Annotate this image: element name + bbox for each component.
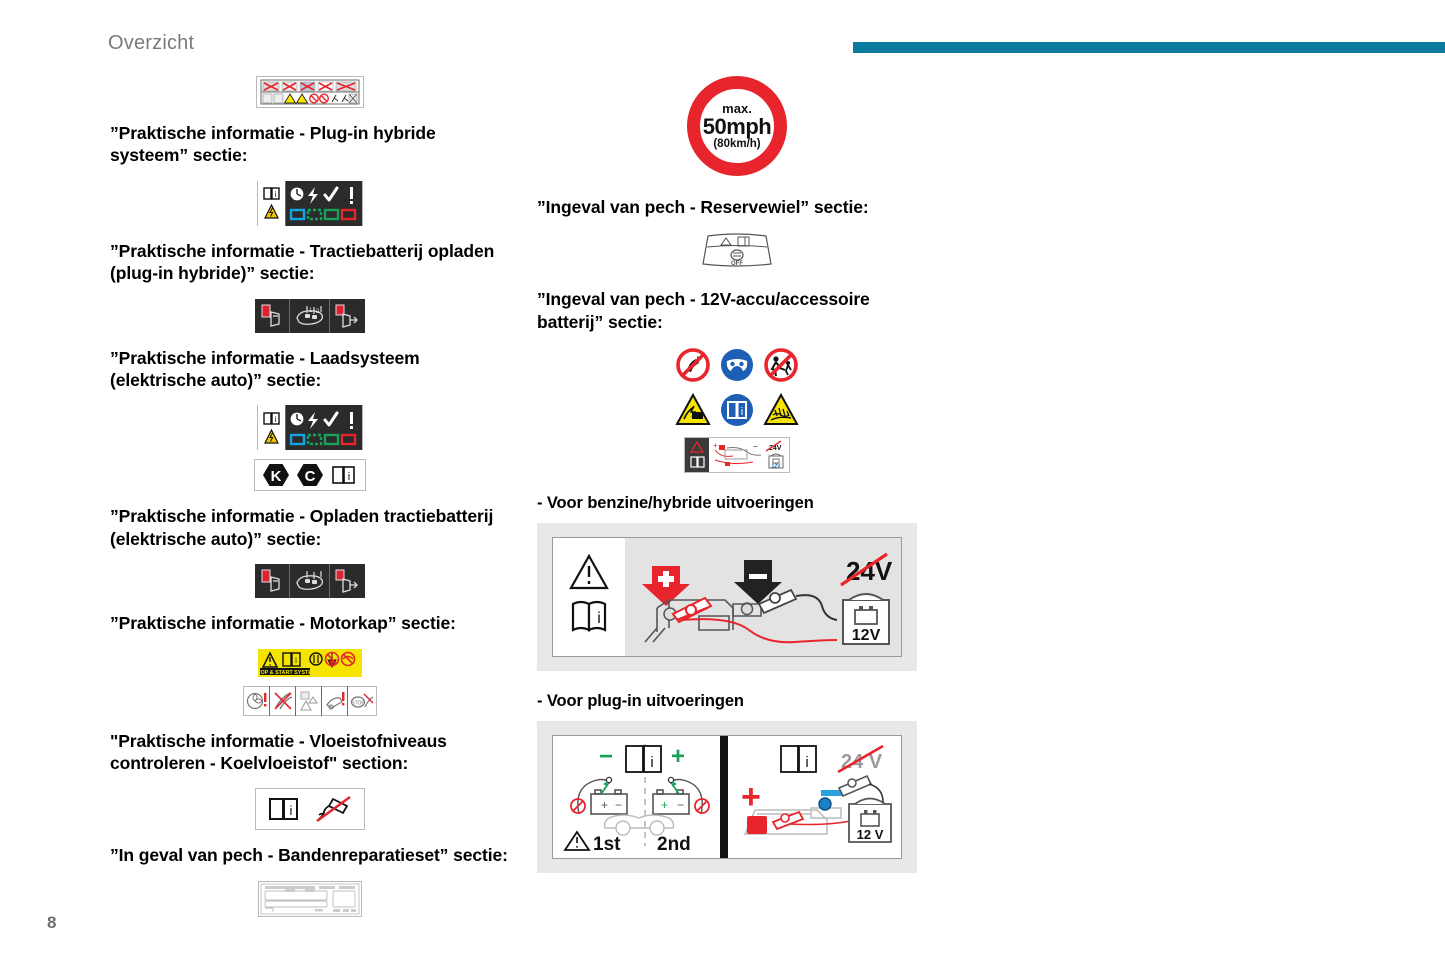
- svg-text:+: +: [713, 441, 718, 450]
- svg-text:−: −: [753, 442, 758, 451]
- read-manual-icon: i: [719, 392, 755, 428]
- svg-text:12V: 12V: [772, 464, 782, 470]
- icon-group-tyre-repair-kit: [110, 881, 510, 917]
- icon-group-charging-status-1: i: [110, 181, 510, 226]
- hexagon-k-icon: K: [259, 459, 293, 491]
- charging-flap-key-strip: 1 2: [255, 299, 365, 333]
- charging-status-indicator-strip: i: [257, 181, 363, 226]
- heading-traction-battery-charge-ev: ”Praktische informatie - Opladen tractie…: [110, 505, 510, 550]
- heading-12v-battery: ”Ingeval van pech - 12V-accu/accessoire …: [537, 288, 937, 333]
- svg-text:i: i: [274, 415, 276, 424]
- svg-text:i: i: [295, 656, 297, 665]
- plugin-minus-label: −: [599, 743, 613, 770]
- prohibition-warning-strip: [256, 76, 364, 108]
- icon-group-charging-flap-key-1: 1 2: [110, 299, 510, 333]
- svg-text:i: i: [650, 754, 653, 771]
- open-book-info-icon: i: [327, 459, 361, 491]
- heading-traction-battery-charging: ”Praktische informatie - Tractiebatterij…: [110, 240, 510, 285]
- heading-bonnet: ”Praktische informatie - Motorkap” secti…: [110, 612, 510, 634]
- speed-limit-sign: max. 50mph (80km/h): [687, 76, 787, 176]
- open-book-info-icon: i: [262, 788, 308, 830]
- step-2-label: 2nd: [657, 834, 691, 855]
- heading-charging-system-ev: ”Praktische informatie - Laadsysteem (el…: [110, 347, 510, 392]
- stop-start-warning-strip: i STOP & START SYSTEM: [258, 649, 362, 677]
- left-column: ”Praktische informatie - Plug-in hybride…: [110, 76, 510, 917]
- icon-group-tpms-off: OFF: [537, 232, 937, 268]
- subheading-plugin: - Voor plug-in uitvoeringen: [537, 691, 937, 712]
- battery-explosion-hazard-icon: [675, 392, 711, 428]
- icon-group-prohibition-warning: [110, 76, 510, 108]
- plugin-plus-label: +: [671, 743, 685, 770]
- tpms-off-button: OFF: [700, 232, 774, 268]
- no-hand-tool-icon: [308, 788, 358, 830]
- speed-metric: (80km/h): [713, 139, 760, 151]
- heading-tyre-repair-kit: ”In geval van pech - Bandenreparatieset”…: [110, 844, 510, 866]
- jump-start-plugin-diagram: − i + + − +: [537, 721, 917, 873]
- wear-eye-protection-icon: [719, 347, 755, 383]
- icon-group-k-c-manual: K C i: [110, 459, 510, 491]
- page-title: Overzicht: [108, 32, 194, 55]
- right-column: max. 50mph (80km/h) ”Ingeval van pech - …: [537, 76, 937, 873]
- tpms-off-label: OFF: [731, 261, 743, 267]
- corrosive-acid-hazard-icon: [763, 392, 799, 428]
- svg-text:K: K: [271, 468, 282, 485]
- svg-text:+: +: [601, 798, 608, 812]
- heading-plugin-hybrid-system: ”Praktische informatie - Plug-in hybride…: [110, 122, 510, 167]
- svg-text:i: i: [290, 803, 293, 818]
- plugin-voltage-forbidden-label: 24 V: [841, 751, 883, 773]
- heading-coolant-levels: "Praktische informatie - Vloeistofniveau…: [110, 730, 510, 775]
- manual-no-smoking-strip: i: [255, 788, 365, 830]
- icon-group-engine-bay-hazard: STOP: [110, 686, 510, 716]
- engine-bay-hazard-strip: STOP: [243, 686, 377, 716]
- svg-text:i: i: [741, 406, 743, 418]
- voltage-ok-label: 12V: [852, 627, 881, 644]
- jump-start-petrol-hybrid-diagram: i: [537, 523, 917, 671]
- svg-text:i: i: [805, 754, 808, 771]
- svg-text:STOP: STOP: [351, 700, 365, 706]
- voltage-forbidden-label: 24V: [846, 556, 893, 586]
- hexagon-c-icon: C: [293, 459, 327, 491]
- header-accent-bar: [853, 42, 1445, 53]
- svg-text:−: −: [677, 798, 684, 812]
- k-c-manual-strip: K C i: [254, 459, 366, 491]
- icon-group-battery-safety-row1: [537, 347, 937, 383]
- icon-group-jumpstart-strip: + − 24V 12V: [537, 437, 937, 473]
- svg-text:−: −: [615, 798, 622, 812]
- keep-children-away-icon: [763, 347, 799, 383]
- svg-text:i: i: [348, 471, 350, 483]
- no-flame-no-sparks-icon: [675, 347, 711, 383]
- tyre-repair-kit-label: [258, 881, 362, 917]
- step-1-label: 1st: [593, 834, 621, 855]
- plugin-voltage-ok-label: 12 V: [857, 827, 884, 842]
- icon-group-charging-flap-key-2: [110, 564, 510, 598]
- icon-group-manual-no-hand: i: [110, 788, 510, 830]
- svg-text:+: +: [661, 798, 668, 812]
- charging-flap-key-strip-2: [255, 564, 365, 598]
- icon-group-stop-start: i STOP & START SYSTEM: [110, 649, 510, 677]
- subheading-petrol-hybrid: - Voor benzine/hybride uitvoeringen: [537, 493, 937, 514]
- icon-group-battery-safety-row2: i: [537, 392, 937, 428]
- heading-spare-wheel: ”Ingeval van pech - Reservewiel” sectie:: [537, 196, 937, 218]
- speed-max-label: max.: [722, 102, 752, 115]
- svg-text:i: i: [597, 610, 601, 627]
- svg-text:C: C: [305, 468, 316, 485]
- svg-text:i: i: [274, 190, 276, 199]
- speed-value: 50mph: [703, 116, 771, 138]
- jumpstart-12v-strip: + − 24V 12V: [684, 437, 790, 473]
- icon-group-speed-limit: max. 50mph (80km/h): [537, 76, 937, 176]
- icon-group-charging-status-2: i: [110, 405, 510, 450]
- charging-status-indicator-strip-2: i: [257, 405, 363, 450]
- svg-text:STOP & START SYSTEM: STOP & START SYSTEM: [258, 670, 317, 676]
- page-number: 8: [47, 913, 56, 933]
